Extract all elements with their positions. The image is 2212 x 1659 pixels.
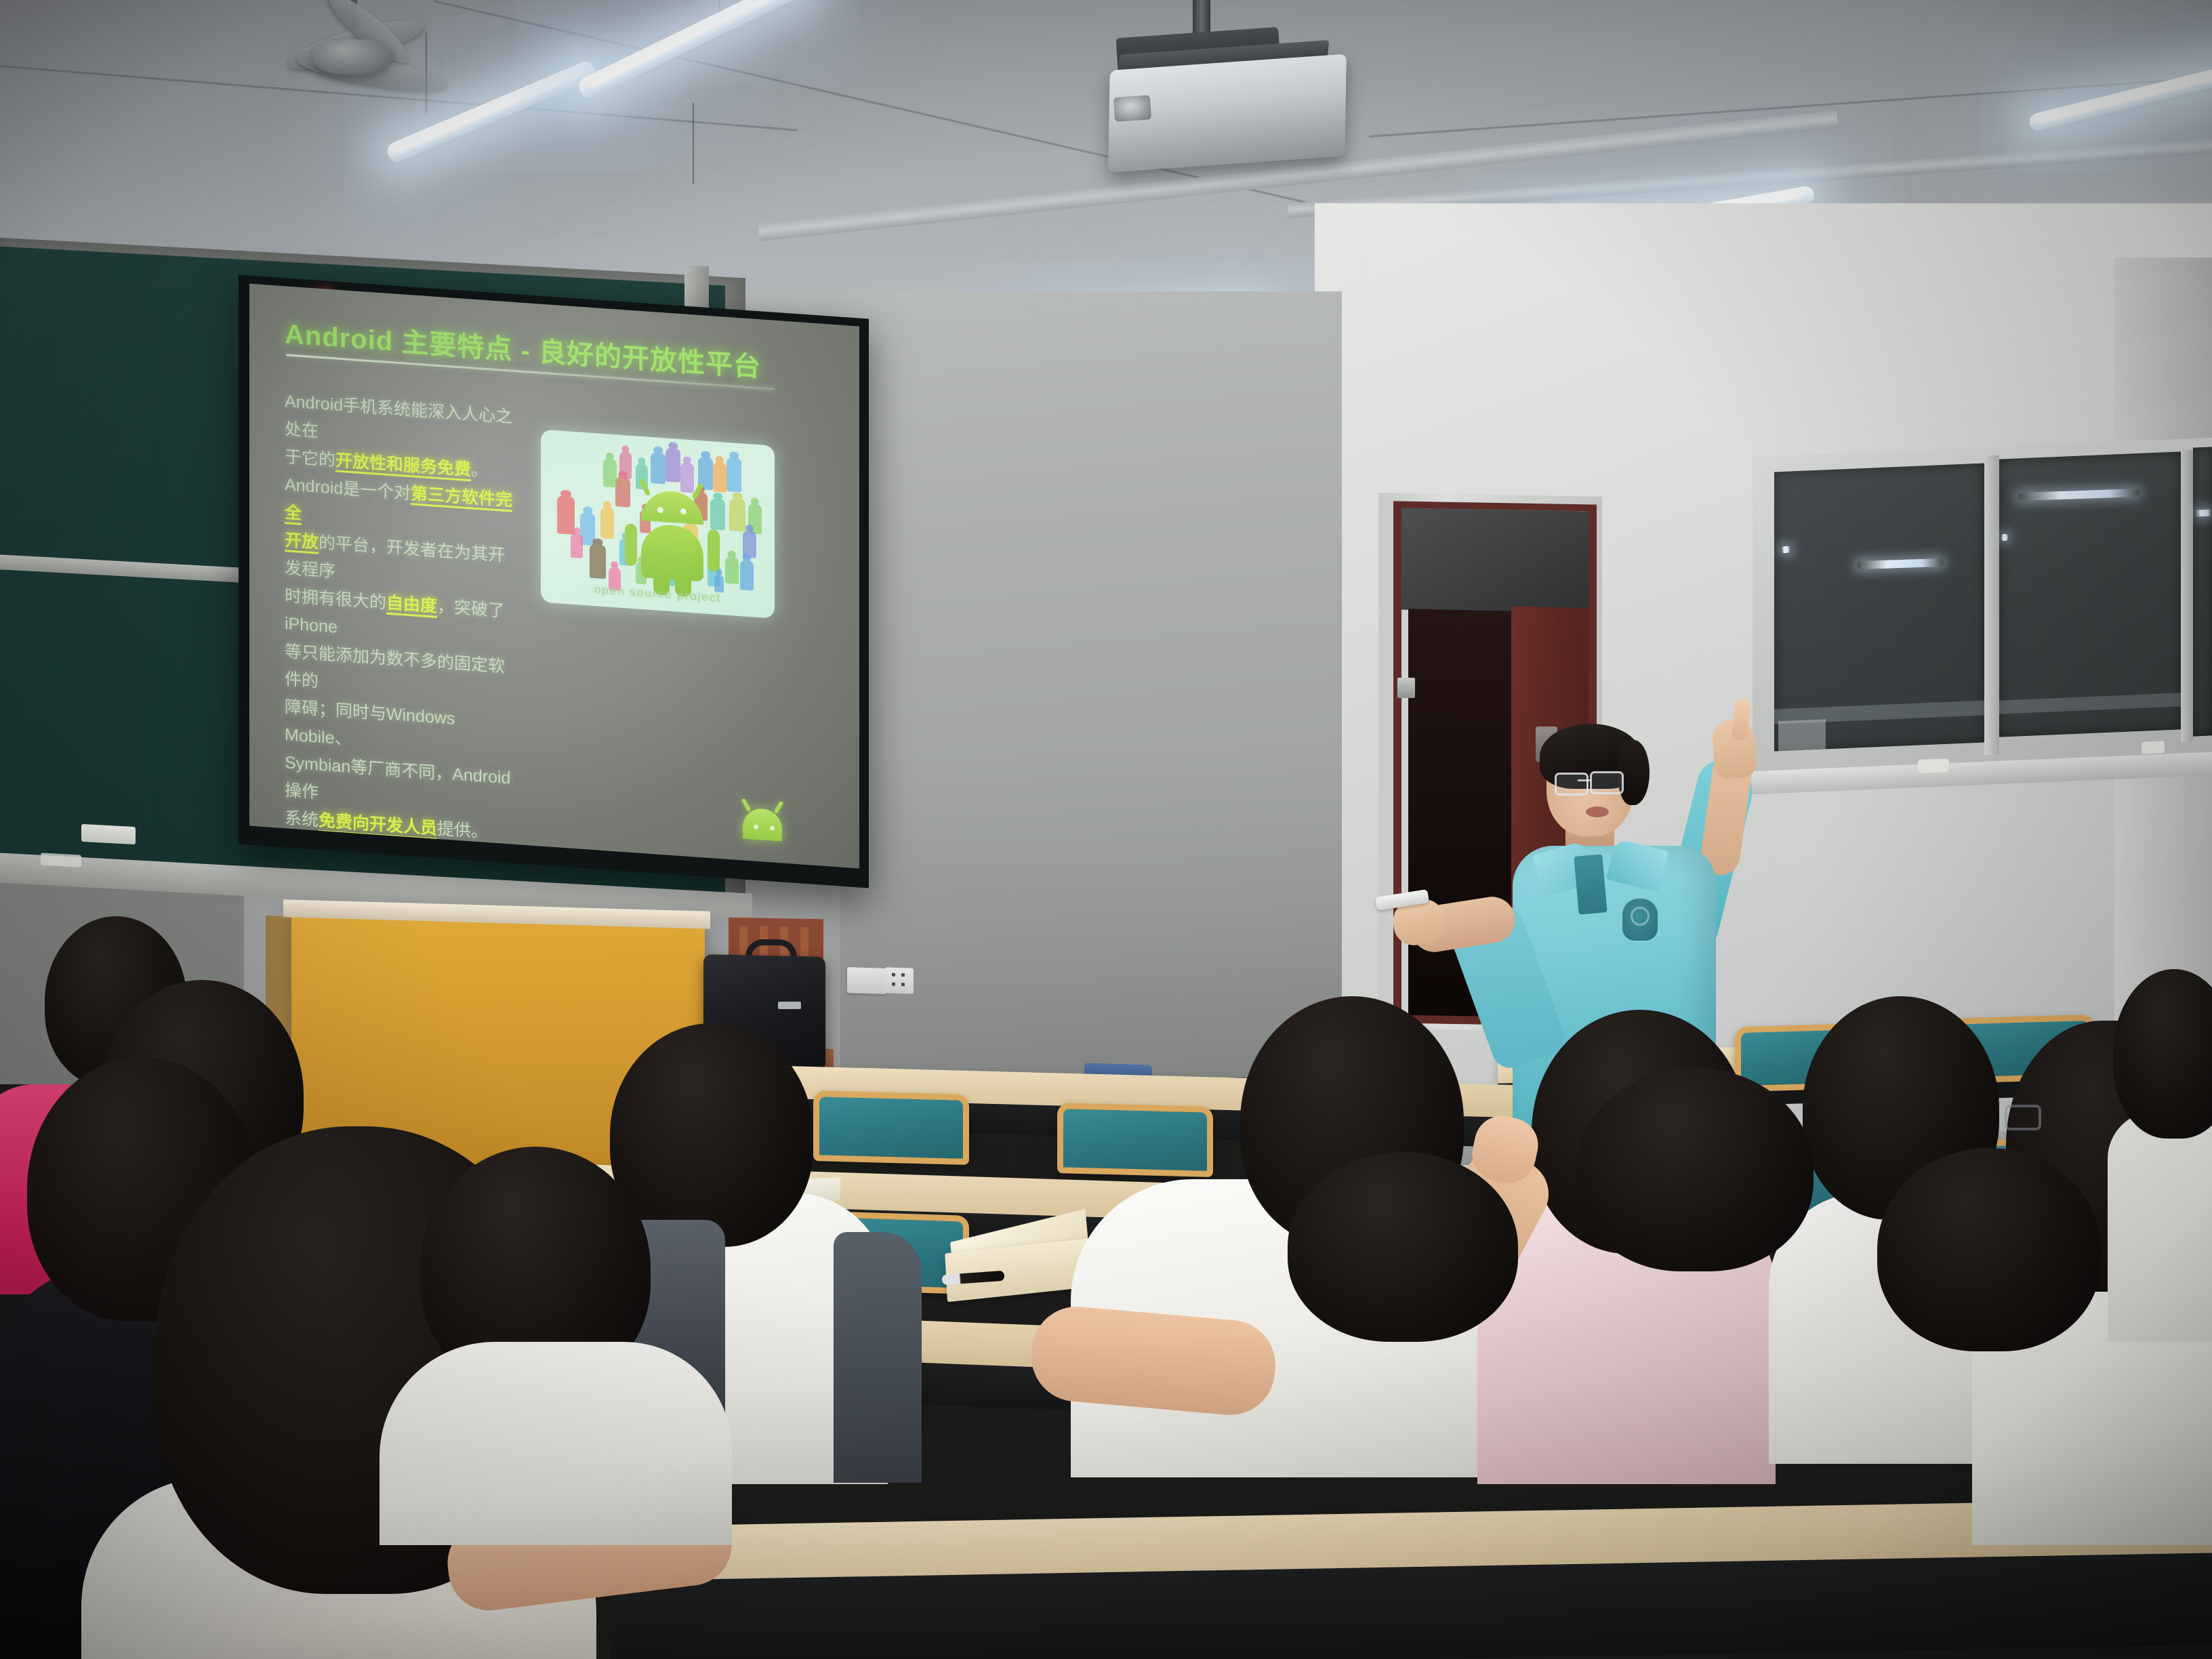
classroom-photo: Android 主要特点 - 良好的开放性平台 Android手机系统能深入人心… [0,0,2212,1659]
crowd-figure [729,498,745,532]
student-chair [1057,1103,1213,1177]
window-light-reflection [2001,534,2009,541]
presenter-mouth [1586,806,1609,817]
student-white-tee-3-torso [2108,1111,2212,1342]
slide-text: Android手机系统能深入人心之处在 [285,392,512,441]
android-arm [708,529,720,572]
android-body [641,523,703,581]
slide-text: 时拥有很大的 [285,586,386,612]
window-light-reflection [2194,510,2212,517]
crowd-figure [603,458,617,487]
crowd-figure [651,452,665,485]
crowd-figure [680,462,694,493]
projection-screen: Android 主要特点 - 良好的开放性平台 Android手机系统能深入人心… [249,284,859,869]
slide-text: 提供。 [437,819,488,842]
slide-image-android-crowd: open source project [541,430,775,619]
door-hinge [1397,678,1415,698]
slide-text: 系统 [285,808,319,829]
presenter-shirt-crest [1622,899,1658,941]
android-arm [625,523,637,566]
android-eye [754,825,758,829]
projector-lens [1113,95,1151,122]
light-wire [693,103,694,184]
slide-body-text: Android手机系统能深入人心之处在于它的开放性和服务免费。Android是一… [285,388,515,848]
student-left-mid-torso [380,1342,732,1545]
slide-text: 障碍；同时与Windows Mobile、 [285,697,455,749]
android-robot [641,489,703,581]
crowd-figure [710,498,725,531]
crowd-figure [713,462,726,492]
window-pane [1774,464,1984,752]
bag-brand-tag [778,1002,801,1009]
android-eye [770,825,775,830]
window-latch[interactable] [2142,741,2165,754]
crowd-figure [665,447,680,483]
slide-highlighted-text: 自由度 [386,594,437,618]
slide-text: Android是一个对 [285,475,411,503]
presenter-hair-side [1618,740,1650,805]
crowd-figure [615,476,630,508]
android-robot-peek-icon [736,798,789,842]
student-behind-presenter-head [1576,1068,1814,1271]
crowd-figure [714,575,724,593]
slide-highlighted-text: 开放 [285,531,319,554]
chalk-stick [81,824,136,844]
student-right-head [1877,1148,2101,1351]
crowd-figure [725,556,739,584]
window-pane [2193,447,2212,736]
eyeglasses-bridge [1578,779,1590,781]
slide-title: Android 主要特点 - 良好的开放性平台 [285,312,834,390]
student-grey-vest-side [834,1232,922,1483]
student-white-tee-head [610,1023,813,1247]
student-mid-head [1288,1152,1518,1342]
eyeglasses-lens [1590,771,1624,794]
wall-power-outlet[interactable] [885,967,914,994]
student-chair [813,1090,969,1165]
window-mullion [2181,450,2193,742]
android-eye [680,508,687,515]
window-latch[interactable] [1918,758,1949,773]
window-mullion [1984,455,1999,756]
crowd-figure [600,507,614,539]
crowd-figure [590,544,606,579]
window-light-reflection [1781,546,1790,553]
android-antenna [741,798,751,812]
presenter-polo-placket [1574,854,1607,914]
light-wire [426,33,427,114]
chalk-stick [41,853,81,867]
crowd-figure [619,451,632,479]
crowd-figure [726,457,741,493]
slide-text: 于它的 [285,447,335,470]
android-antenna [773,800,783,814]
eyeglasses-lens [1555,773,1589,796]
android-eye [657,507,663,514]
student-eyeglasses [2005,1105,2041,1130]
crowd-figure [557,495,575,535]
ceiling-fan [312,39,393,75]
wall-switch[interactable] [847,967,886,994]
crowd-figure [740,560,754,590]
crowd-figure [571,533,583,558]
slide-text: 。 [471,460,488,480]
